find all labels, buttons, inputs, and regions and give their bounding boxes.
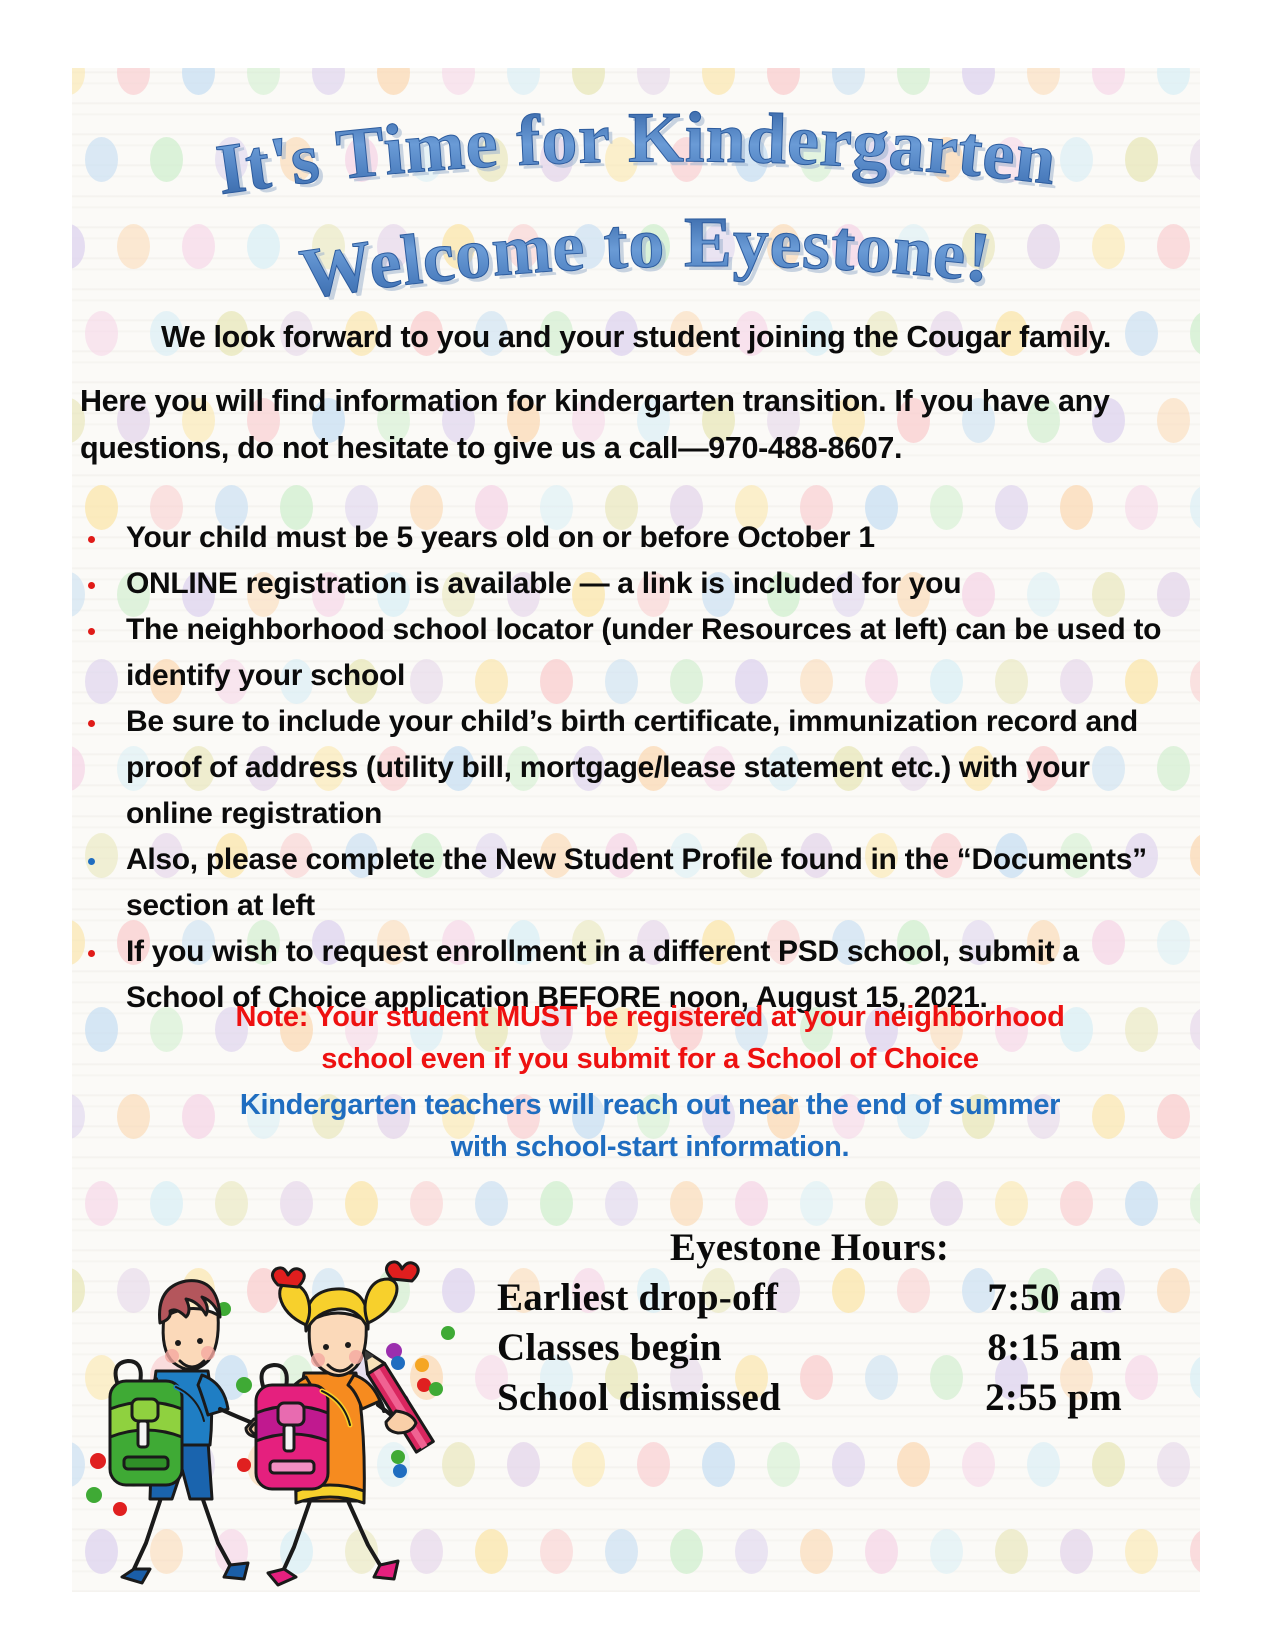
teacher-outreach-callout: Kindergarten teachers will reach out nea… [162,1084,1138,1168]
flyer-content: It's Time for Kindergarten Welcome to Ey… [72,68,1200,1592]
boy-figure [110,1281,274,1583]
bullet-text: ONLINE registration is available — a lin… [126,567,961,600]
title-line-1: It's Time for Kindergarten [212,97,1061,210]
bullet-marker-icon [88,536,95,543]
intro-information-paragraph: Here you will find information for kinde… [80,378,1142,472]
bullet-item: Your child must be 5 years old on or bef… [80,515,1162,561]
note-line-2: school even if you submit for a School o… [162,1038,1138,1080]
svg-text:It's Time for Kindergarten: It's Time for Kindergarten [212,97,1061,210]
teacher-line-2: with school-start information. [162,1126,1138,1168]
hours-row-time: 2:55 pm [985,1373,1122,1423]
title-line-2: Welcome to Eyestone! [295,202,995,314]
note-callout: Note: Your student MUST be registered at… [162,996,1138,1080]
school-hours-table: Eyestone Hours: Earliest drop-off7:50 am… [497,1223,1122,1423]
bullet-item: The neighborhood school locator (under R… [80,607,1162,699]
bullet-item: Also, please complete the New Student Pr… [80,837,1162,929]
bullet-text: The neighborhood school locator (under R… [126,613,1161,692]
teacher-line-1: Kindergarten teachers will reach out nea… [162,1084,1138,1126]
bullet-text: Your child must be 5 years old on or bef… [126,521,875,554]
note-line-1: Note: Your student MUST be registered at… [162,996,1138,1038]
hours-heading: Eyestone Hours: [497,1223,1122,1273]
bullet-item: ONLINE registration is available — a lin… [80,561,1162,607]
title-wordart: It's Time for Kindergarten Welcome to Ey… [72,76,1200,291]
hours-row-time: 7:50 am [987,1273,1122,1323]
bullet-marker-icon [88,582,95,589]
hours-row-label: Earliest drop-off [497,1273,778,1323]
kids-walking-clipart [72,1213,492,1592]
hours-row-label: School dismissed [497,1373,781,1423]
hours-row: School dismissed2:55 pm [497,1373,1122,1423]
bullet-marker-icon [88,720,95,727]
bullet-item: Be sure to include your child’s birth ce… [80,699,1162,837]
requirements-bullet-list: Your child must be 5 years old on or bef… [72,515,1162,1021]
intro-welcome-line: We look forward to you and your student … [72,320,1200,355]
hours-row: Earliest drop-off7:50 am [497,1273,1122,1323]
bullet-text: Be sure to include your child’s birth ce… [126,705,1138,830]
bullet-marker-icon [88,950,95,957]
bullet-marker-icon [88,628,95,635]
svg-text:Welcome to Eyestone!: Welcome to Eyestone! [295,202,995,314]
bullet-marker-icon [88,858,95,865]
flyer-sheet: It's Time for Kindergarten Welcome to Ey… [72,68,1200,1592]
girl-figure [250,1262,433,1585]
page-title: It's Time for Kindergarten Welcome to Ey… [72,76,1200,291]
hours-row: Classes begin8:15 am [497,1323,1122,1373]
hours-row-time: 8:15 am [987,1323,1122,1373]
hours-row-label: Classes begin [497,1323,722,1373]
bullet-text: Also, please complete the New Student Pr… [126,843,1147,922]
